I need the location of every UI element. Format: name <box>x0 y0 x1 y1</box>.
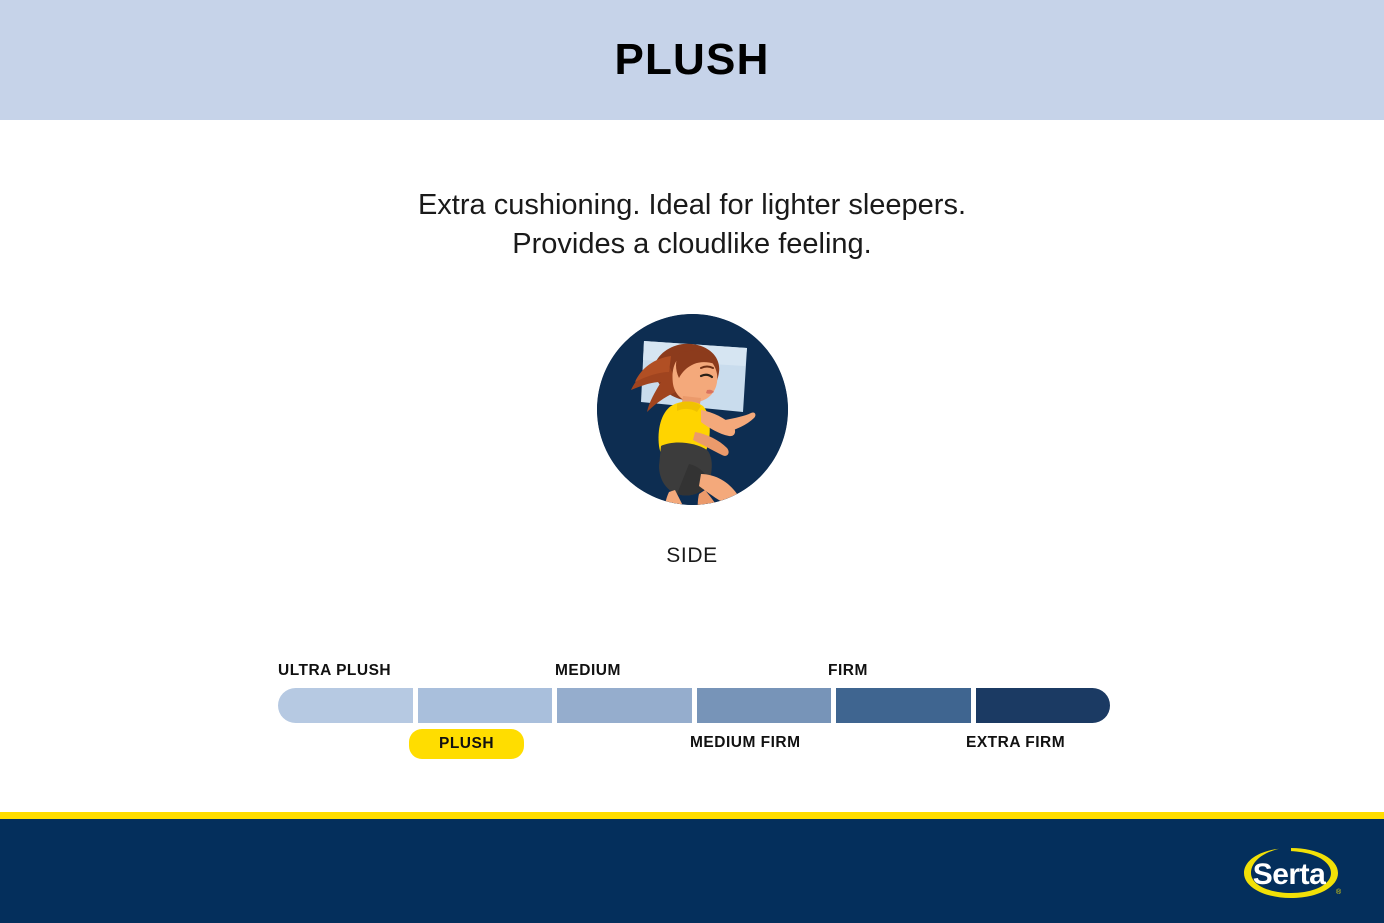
scale-label-firm: FIRM <box>828 662 868 680</box>
scale-label-medium-firm: MEDIUM FIRM <box>690 734 801 752</box>
scale-label-extra-firm: EXTRA FIRM <box>966 734 1065 752</box>
svg-text:®: ® <box>1336 888 1342 896</box>
scale-label-ultra-plush: ULTRA PLUSH <box>278 662 391 680</box>
page-title: PLUSH <box>614 38 769 82</box>
page-footer <box>0 819 1384 923</box>
description-text: Extra cushioning. Ideal for lighter slee… <box>0 186 1384 263</box>
scale-segment-plush[interactable] <box>418 688 553 723</box>
firmness-scale-top-labels: ULTRA PLUSH MEDIUM FIRM <box>278 662 1110 688</box>
side-sleeper-illustration-icon <box>597 314 788 505</box>
serta-logo[interactable]: Serta ® <box>1232 842 1350 904</box>
scale-segment-extra-firm[interactable] <box>976 688 1111 723</box>
scale-label-medium: MEDIUM <box>555 662 621 680</box>
page-header: PLUSH <box>0 0 1384 120</box>
firmness-scale-bar[interactable] <box>278 688 1110 723</box>
scale-segment-firm[interactable] <box>836 688 971 723</box>
description-line-1: Extra cushioning. Ideal for lighter slee… <box>0 186 1384 225</box>
description-line-2: Provides a cloudlike feeling. <box>0 225 1384 264</box>
scale-label-plush-selected[interactable]: PLUSH <box>409 729 524 759</box>
firmness-scale: ULTRA PLUSH MEDIUM FIRM PLUSH MEDIUM FIR… <box>278 662 1110 772</box>
footer-accent-stripe <box>0 812 1384 819</box>
firmness-scale-bottom-labels: PLUSH MEDIUM FIRM EXTRA FIRM <box>278 734 1110 764</box>
scale-segment-ultra-plush[interactable] <box>278 688 413 723</box>
scale-segment-medium-firm[interactable] <box>697 688 832 723</box>
scale-segment-medium[interactable] <box>557 688 692 723</box>
sleep-position-label: SIDE <box>0 544 1384 568</box>
sleeper-illustration-container <box>597 314 788 505</box>
svg-text:Serta: Serta <box>1253 858 1326 891</box>
